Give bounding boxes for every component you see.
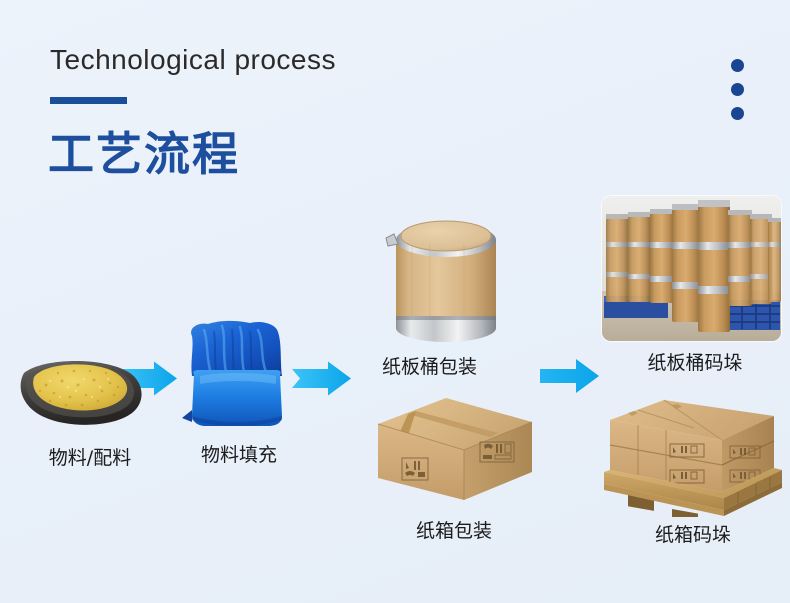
title-accent-rule (50, 97, 127, 104)
flow-node-carton-pack-label: 纸箱包装 (368, 516, 540, 543)
flow-node-drum-stack: 纸板桶码垛 (602, 196, 788, 374)
process-infographic: Technological process 工艺流程 (0, 0, 790, 603)
cartons-on-wood-pallet-icon (598, 392, 788, 517)
flow-node-material: 物料/配料 (10, 335, 170, 470)
flow-node-drum-pack-label: 纸板桶包装 (372, 352, 542, 379)
flow-node-material-label: 物料/配料 (10, 443, 170, 470)
page-title-chinese: 工艺流程 (48, 118, 240, 184)
dot-3 (731, 107, 744, 120)
yellow-powder-in-tray-icon (10, 335, 170, 435)
arrow-2-icon (292, 361, 354, 397)
flow-node-drum-pack: 纸板桶包装 (372, 212, 532, 372)
arrow-3-icon (540, 358, 602, 394)
flow-node-carton-stack: 纸箱码垛 (598, 392, 788, 547)
dot-1 (731, 59, 744, 72)
fiber-drum-icon (372, 212, 532, 352)
stacked-fiber-drums-photo (602, 196, 781, 341)
three-dots-decoration-icon (731, 59, 745, 120)
dot-2 (731, 83, 744, 96)
flow-node-filling-label: 物料填充 (178, 440, 300, 467)
page-title-english: Technological process (50, 44, 336, 76)
cardboard-carton-icon (368, 392, 540, 512)
blue-plastic-bag-icon (178, 318, 300, 436)
flow-node-filling: 物料填充 (178, 318, 300, 470)
flow-node-carton-pack: 纸箱包装 (368, 392, 540, 547)
flow-node-carton-stack-label: 纸箱码垛 (598, 520, 788, 547)
flow-node-drum-stack-label: 纸板桶码垛 (602, 348, 788, 375)
